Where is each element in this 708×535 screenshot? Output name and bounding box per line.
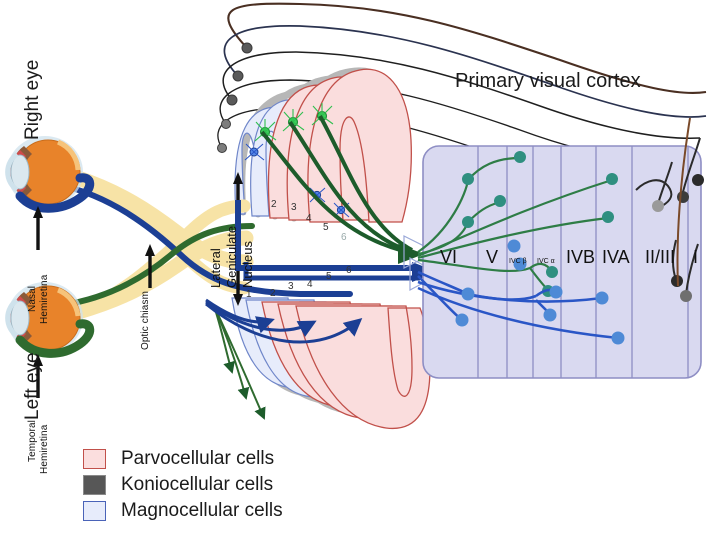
right-hemiretina-label-line2: Hemiretina — [39, 275, 50, 324]
lgn-label-line2: Geniculate — [224, 226, 239, 288]
lgn-lower-number-4: 4 — [307, 279, 313, 290]
left-hemiretina-label-line2: Hemiretina — [39, 425, 50, 474]
lgn-lower-number-5: 5 — [326, 271, 332, 282]
lgn-lower-number-6: 6 — [346, 265, 352, 276]
lgn-lower-number-1: 1 — [246, 289, 252, 300]
left-hemiretina-label-line1: Temporal — [27, 420, 38, 462]
right-eye-label: Right eye — [22, 60, 44, 140]
lgn-lower-number-3: 3 — [288, 281, 294, 292]
page-title: Primary visual cortex — [455, 70, 641, 93]
lgn-label-line3: Nucleus — [240, 241, 255, 288]
legend-item-parvocellular: Parvocellular cells — [83, 446, 283, 472]
lgn-upper-number-6: 6 — [341, 232, 347, 243]
cortex-layer-V[interactable]: V — [486, 247, 498, 268]
legend-label-koniocellular: Koniocellular cells — [121, 474, 273, 496]
legend-item-magnocellular: Magnocellular cells — [83, 498, 283, 524]
cortex-layer-II-III[interactable]: II/III — [645, 247, 675, 268]
diagram-canvas: Right eye Left eye Nasal Hemiretina Temp… — [0, 0, 708, 535]
lgn-upper-number-2: 2 — [271, 199, 277, 210]
lgn-upper-number-4: 4 — [306, 213, 312, 224]
left-eye-label: Left eye — [22, 352, 44, 420]
cortex-layer-IVA[interactable]: IVA — [602, 247, 630, 268]
cortex-layer-IVB[interactable]: IVB — [566, 247, 595, 268]
lgn-lower — [206, 298, 430, 428]
cortex-layer-I[interactable]: I — [693, 247, 698, 268]
legend-swatch-koniocellular — [83, 475, 106, 495]
legend-swatch-parvocellular — [83, 449, 106, 469]
right-hemiretina-label-line1: Nasal — [27, 286, 38, 312]
cortex-layer-VI[interactable]: VI — [440, 247, 457, 268]
legend: Parvocellular cells Koniocellular cells … — [83, 446, 283, 524]
cortex-layer-IVC-beta[interactable]: IVC β — [509, 258, 527, 265]
lgn-upper-number-5: 5 — [323, 222, 329, 233]
lgn-upper — [235, 69, 411, 222]
lgn-lower-number-2: 2 — [270, 288, 276, 299]
right-eye — [7, 136, 90, 208]
legend-swatch-magnocellular — [83, 501, 106, 521]
legend-item-koniocellular: Koniocellular cells — [83, 472, 283, 498]
lgn-upper-number-3: 3 — [291, 202, 297, 213]
legend-label-magnocellular: Magnocellular cells — [121, 500, 283, 522]
cortex-layer-IVC-alpha[interactable]: IVC α — [537, 258, 555, 265]
lgn-label-line1: Lateral — [208, 248, 223, 288]
optic-chiasm-label: Optic chiasm — [140, 291, 151, 350]
legend-label-parvocellular: Parvocellular cells — [121, 448, 274, 470]
